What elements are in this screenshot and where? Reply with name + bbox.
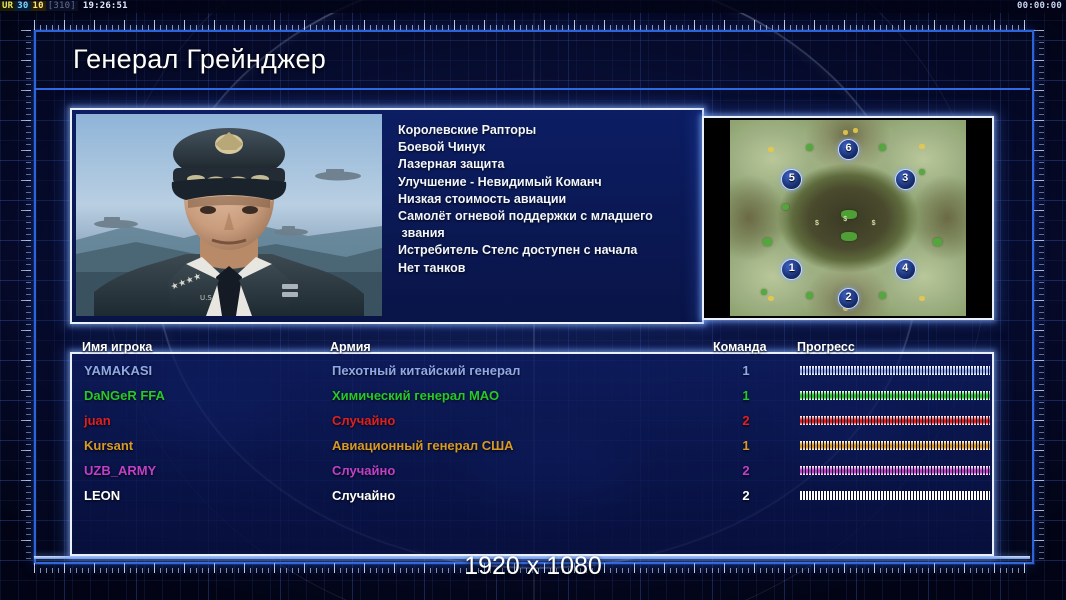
column-header-player: Имя игрока [82,340,152,354]
player-army: Химический генерал МАО [332,388,499,403]
player-list-panel: YAMAKASIПехотный китайский генерал1DaNGe… [70,352,994,556]
ability-line: Королевские Рапторы [398,122,694,139]
map-start-position-2: 2 [838,288,859,309]
map-preview-image: $ $ $ 123456 [730,120,966,316]
status-tag: UR [0,1,15,11]
map-start-position-3: 3 [895,169,916,190]
table-row: juanСлучайно2 [72,410,992,435]
player-name: LEON [84,488,120,503]
status-value-3: [310] [46,1,78,11]
map-preview-frame: $ $ $ 123456 [706,120,990,316]
status-value-2: 10 [31,1,46,11]
player-army: Случайно [332,413,395,428]
frame-title-divider [34,88,1030,90]
status-clock: 19:26:51 [78,1,128,11]
general-info-panel: ★★★★ U.S. Королевские РапторыБоевой Чину… [70,108,704,324]
player-team: 1 [736,363,756,378]
map-start-position-6: 6 [838,139,859,160]
player-army: Случайно [332,463,395,478]
player-army: Пехотный китайский генерал [332,363,520,378]
ability-line: Самолёт огневой поддержки с младшего [398,208,694,225]
player-progress-bar [800,366,990,375]
table-row: DaNGeR FFAХимический генерал МАО1 [72,385,992,410]
map-start-position-4: 4 [895,259,916,280]
column-header-progress: Прогресс [797,340,855,354]
table-row: YAMAKASIПехотный китайский генерал1 [72,360,992,385]
map-start-position-5: 5 [781,169,802,190]
ability-line: Улучшение - Невидимый Команч [398,174,694,191]
player-rows: YAMAKASIПехотный китайский генерал1DaNGe… [72,360,992,510]
player-progress-bar [800,491,990,500]
player-name: Kursant [84,438,133,453]
player-team: 2 [736,463,756,478]
ability-line: Лазерная защита [398,156,694,173]
player-progress-bar [800,416,990,425]
player-army: Случайно [332,488,395,503]
player-name: YAMAKASI [84,363,152,378]
table-row: UZB_ARMYСлучайно2 [72,460,992,485]
resolution-label: 1920 x 1080 [0,552,1066,581]
player-team: 1 [736,438,756,453]
player-progress-bar [800,391,990,400]
map-start-position-1: 1 [781,259,802,280]
ability-line: Нет танков [398,260,694,277]
ability-line: Боевой Чинук [398,139,694,156]
player-team: 1 [736,388,756,403]
game-loading-screen: UR3010[310]19:26:51 00:00:00 Генерал Гре… [0,0,1066,600]
player-name: UZB_ARMY [84,463,156,478]
player-army: Авиационный генерал США [332,438,514,453]
player-team: 2 [736,413,756,428]
map-preview-panel: $ $ $ 123456 [702,116,994,320]
table-row: KursantАвиационный генерал США1 [72,435,992,460]
top-status-bar: UR3010[310]19:26:51 00:00:00 [0,0,1066,13]
status-value-1: 30 [15,1,30,11]
player-name: juan [84,413,111,428]
svg-text:U.S.: U.S. [200,294,214,302]
player-progress-bar [800,466,990,475]
table-row: LEONСлучайно2 [72,485,992,510]
column-header-army: Армия [330,340,371,354]
player-team: 2 [736,488,756,503]
page-title: Генерал Грейнджер [73,44,326,75]
player-name: DaNGeR FFA [84,388,165,403]
general-portrait: ★★★★ U.S. [76,114,382,316]
abilities-list: Королевские РапторыБоевой ЧинукЛазерная … [398,122,694,277]
ability-line: Истребитель Стелс доступен с начала [398,242,694,259]
player-progress-bar [800,441,990,450]
ability-line: звания [398,225,694,242]
status-timer: 00:00:00 [1017,0,1062,13]
column-header-team: Команда [713,340,767,354]
ability-line: Низкая стоимость авиации [398,191,694,208]
